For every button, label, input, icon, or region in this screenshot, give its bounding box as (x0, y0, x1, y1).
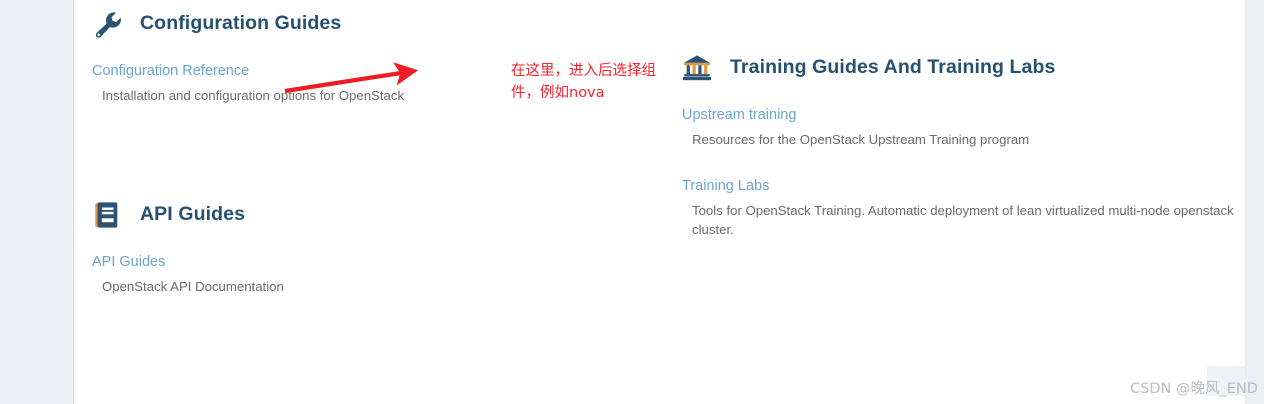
book-icon (92, 199, 122, 231)
section-title: Training Guides And Training Labs (730, 56, 1055, 79)
list-item: Upstream training Resources for the Open… (682, 106, 1242, 149)
section-header-training-guides: Training Guides And Training Labs (682, 52, 1242, 84)
left-background-strip (0, 0, 74, 404)
section-training-guides: Training Guides And Training Labs Upstre… (682, 52, 1242, 239)
entry-description: Installation and configuration options f… (102, 87, 512, 105)
entry-description: OpenStack API Documentation (102, 278, 512, 296)
section-api-guides: API Guides API Guides OpenStack API Docu… (92, 199, 512, 296)
link-upstream-training[interactable]: Upstream training (682, 106, 796, 124)
entry-description: Tools for OpenStack Training. Automatic … (692, 202, 1242, 238)
list-item: Configuration Reference Installation and… (92, 62, 512, 105)
documentation-page: Configuration Guides Configuration Refer… (0, 0, 1276, 404)
section-header-api-guides: API Guides (92, 199, 512, 231)
list-item: API Guides OpenStack API Documentation (92, 253, 512, 296)
section-header-configuration-guides: Configuration Guides (92, 8, 512, 40)
entry-description: Resources for the OpenStack Upstream Tra… (692, 131, 1242, 149)
wrench-icon (92, 8, 122, 40)
right-background-strip (1245, 0, 1264, 404)
csdn-watermark: CSDN @晚风_END (1130, 377, 1258, 398)
section-configuration-guides: Configuration Guides Configuration Refer… (92, 8, 512, 105)
link-configuration-reference[interactable]: Configuration Reference (92, 62, 249, 80)
section-title: API Guides (140, 203, 245, 226)
list-item: Training Labs Tools for OpenStack Traini… (682, 177, 1242, 239)
section-title: Configuration Guides (140, 12, 341, 35)
bank-icon (682, 52, 712, 84)
annotation-text: 在这里，进入后选择组件，例如nova (511, 60, 671, 104)
link-api-guides[interactable]: API Guides (92, 253, 165, 271)
link-training-labs[interactable]: Training Labs (682, 177, 769, 195)
